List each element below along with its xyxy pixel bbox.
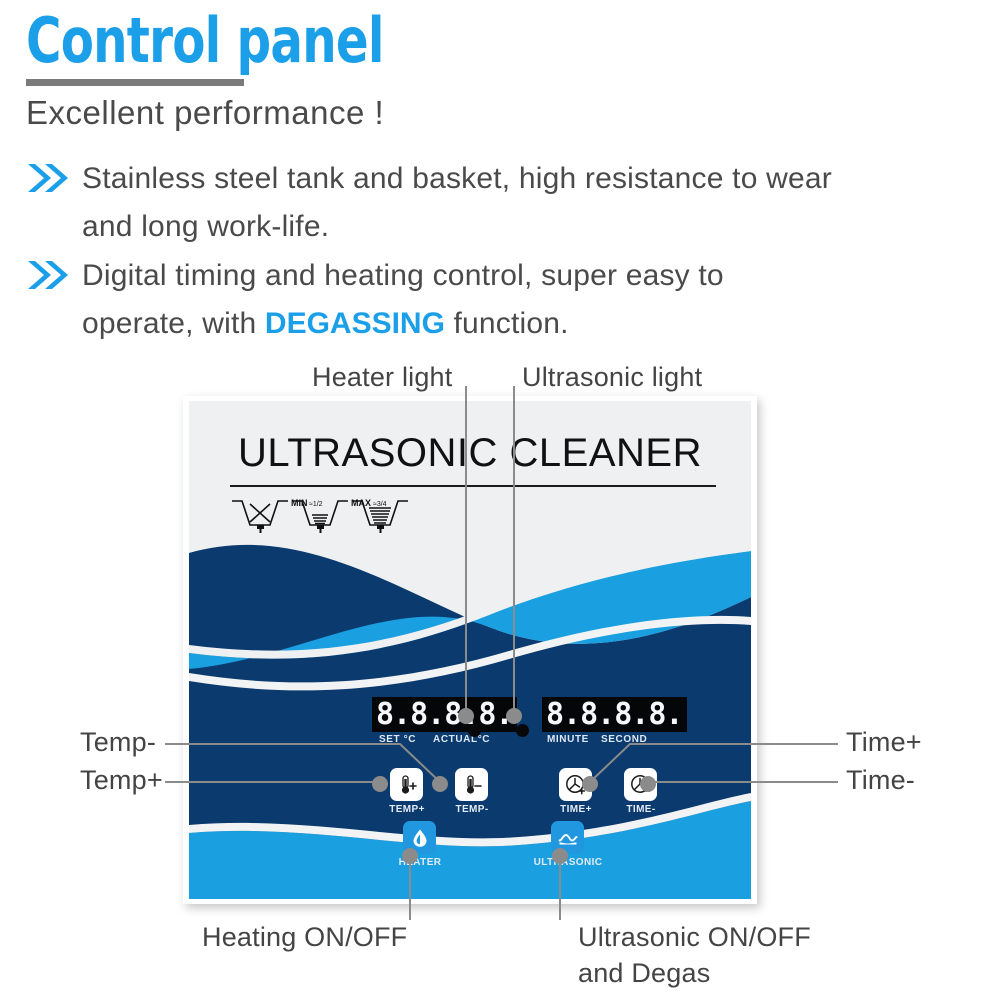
actual-temp-label: ACTUAL°C bbox=[433, 734, 490, 745]
title-underline-rule bbox=[26, 79, 244, 86]
temperature-display-value: 8.8.8.8. bbox=[376, 700, 513, 730]
tank-empty-icon bbox=[232, 501, 288, 533]
brand-title-rule bbox=[230, 485, 716, 487]
water-drop-icon bbox=[410, 828, 430, 848]
svg-text:MIN: MIN bbox=[291, 498, 308, 508]
time-minus-label: TIME- bbox=[616, 804, 666, 815]
timer-display-value: 8.8.8.8. bbox=[546, 700, 683, 730]
temp-plus-label: TEMP+ bbox=[382, 804, 432, 815]
ultrasonic-button[interactable] bbox=[551, 821, 584, 854]
heater-label: HEATER bbox=[389, 857, 451, 868]
ultrasonic-light bbox=[516, 724, 529, 737]
timer-display: 8.8.8.8. bbox=[542, 697, 687, 732]
svg-text:≈1/2: ≈1/2 bbox=[309, 501, 323, 508]
brand-title: ULTRASONIC CLEANER bbox=[189, 431, 751, 476]
clock-minus-icon bbox=[629, 773, 653, 797]
water-level-icons: MIN ≈1/2 MAX ≈3/4 bbox=[229, 495, 409, 537]
double-chevron-right-icon bbox=[26, 259, 70, 291]
temp-minus-label: TEMP- bbox=[447, 804, 497, 815]
control-panel-graphic: ULTRASONIC CLEANER bbox=[180, 396, 760, 908]
set-temp-label: SET °C bbox=[379, 734, 416, 745]
feature-bullet-2: Digital timing and heating control, supe… bbox=[26, 252, 1000, 348]
degassing-highlight: DEGASSING bbox=[265, 307, 445, 340]
temp-minus-button[interactable] bbox=[455, 768, 488, 801]
thermometer-minus-icon bbox=[461, 774, 483, 796]
callout-time-minus-label: Time- bbox=[846, 765, 915, 796]
bullet-2-line-2-after: function. bbox=[445, 307, 569, 340]
bullet-1-line-2: and long work-life. bbox=[82, 210, 329, 243]
page-title: Control panel bbox=[26, 6, 384, 76]
double-chevron-right-icon bbox=[26, 162, 70, 194]
callout-ultrasonic-light-label: Ultrasonic light bbox=[522, 362, 702, 393]
feature-bullet-1-text: Stainless steel tank and basket, high re… bbox=[82, 155, 1000, 251]
callout-ultrasonic-onoff-label-line1: Ultrasonic ON/OFF bbox=[578, 922, 811, 953]
subtitle: Excellent performance ! bbox=[26, 92, 384, 134]
svg-text:MAX: MAX bbox=[351, 498, 371, 508]
bullet-1-line-1: Stainless steel tank and basket, high re… bbox=[82, 162, 832, 195]
temp-plus-button[interactable] bbox=[390, 768, 423, 801]
control-panel-body: ULTRASONIC CLEANER bbox=[183, 396, 757, 904]
minute-label: MINUTE bbox=[547, 734, 589, 745]
clock-plus-icon bbox=[564, 773, 588, 797]
callout-temp-plus-label: Temp+ bbox=[80, 765, 163, 796]
callout-time-plus-label: Time+ bbox=[846, 727, 922, 758]
time-plus-label: TIME+ bbox=[551, 804, 601, 815]
bullet-2-line-1: Digital timing and heating control, supe… bbox=[82, 259, 724, 292]
callout-ultrasonic-onoff-label-line2: and Degas bbox=[578, 958, 710, 989]
time-plus-button[interactable] bbox=[559, 768, 592, 801]
ultrasonic-label: ULTRASONIC bbox=[529, 857, 607, 868]
second-label: SECOND bbox=[601, 734, 647, 745]
callout-temp-minus-label: Temp- bbox=[80, 727, 156, 758]
sound-wave-icon bbox=[557, 828, 579, 848]
feature-bullet-1: Stainless steel tank and basket, high re… bbox=[26, 155, 1000, 251]
control-panel-faceplate: ULTRASONIC CLEANER bbox=[189, 401, 751, 899]
heater-button[interactable] bbox=[403, 821, 436, 854]
feature-bullet-2-text: Digital timing and heating control, supe… bbox=[82, 252, 1000, 348]
thermometer-plus-icon bbox=[396, 774, 418, 796]
callout-heating-onoff-label: Heating ON/OFF bbox=[202, 922, 407, 953]
heater-light bbox=[468, 724, 481, 737]
temperature-display: 8.8.8.8. bbox=[372, 697, 517, 732]
bullet-2-line-2-before: operate, with bbox=[82, 307, 265, 340]
svg-text:≈3/4: ≈3/4 bbox=[373, 501, 387, 508]
callout-heater-light-label: Heater light bbox=[312, 362, 452, 393]
time-minus-button[interactable] bbox=[624, 768, 657, 801]
infographic-root: Control panel Excellent performance ! St… bbox=[0, 0, 1000, 1000]
